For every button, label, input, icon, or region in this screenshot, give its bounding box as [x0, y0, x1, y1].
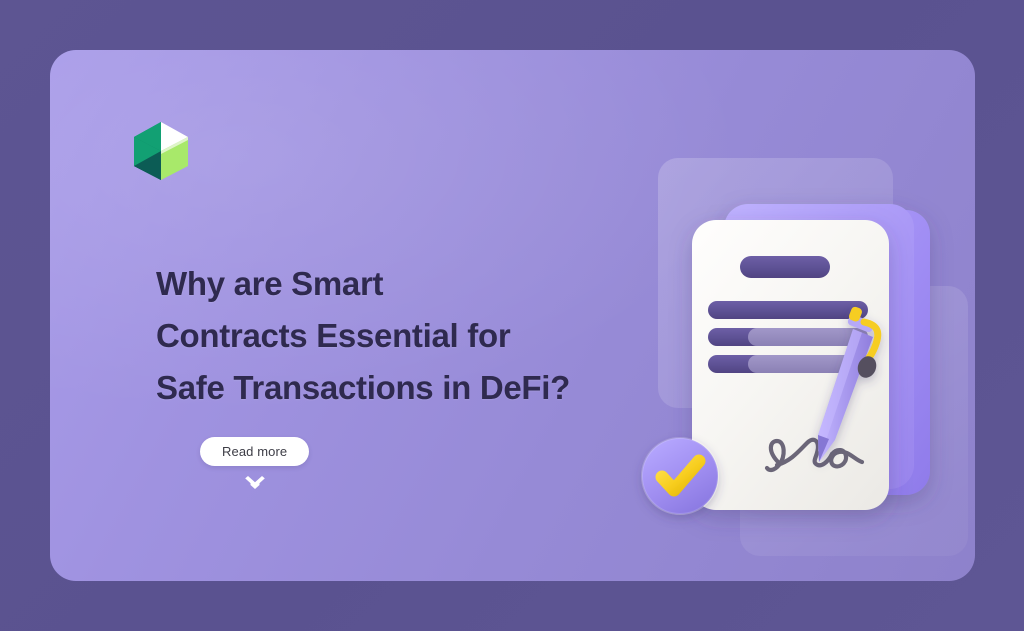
page-title: Why are Smart Contracts Essential for Sa…	[156, 258, 716, 414]
verified-check-badge	[642, 438, 718, 514]
headline-line-2: Contracts Essential for	[156, 310, 716, 362]
hero-card: Why are Smart Contracts Essential for Sa…	[50, 50, 975, 581]
document-title-bar	[740, 256, 830, 278]
headline-line-3: Safe Transactions in DeFi?	[156, 362, 716, 414]
page-background: Why are Smart Contracts Essential for Sa…	[0, 0, 1024, 631]
cta-group: Read more	[200, 437, 309, 491]
document-text-line-1	[708, 301, 868, 319]
headline-line-1: Why are Smart	[156, 258, 716, 310]
chevron-down-icon[interactable]	[242, 475, 268, 491]
read-more-button[interactable]: Read more	[200, 437, 309, 466]
hexagonal-cube-logo[interactable]	[130, 120, 192, 182]
hero-content: Why are Smart Contracts Essential for Sa…	[156, 258, 716, 414]
document-text-line-2	[708, 328, 868, 346]
